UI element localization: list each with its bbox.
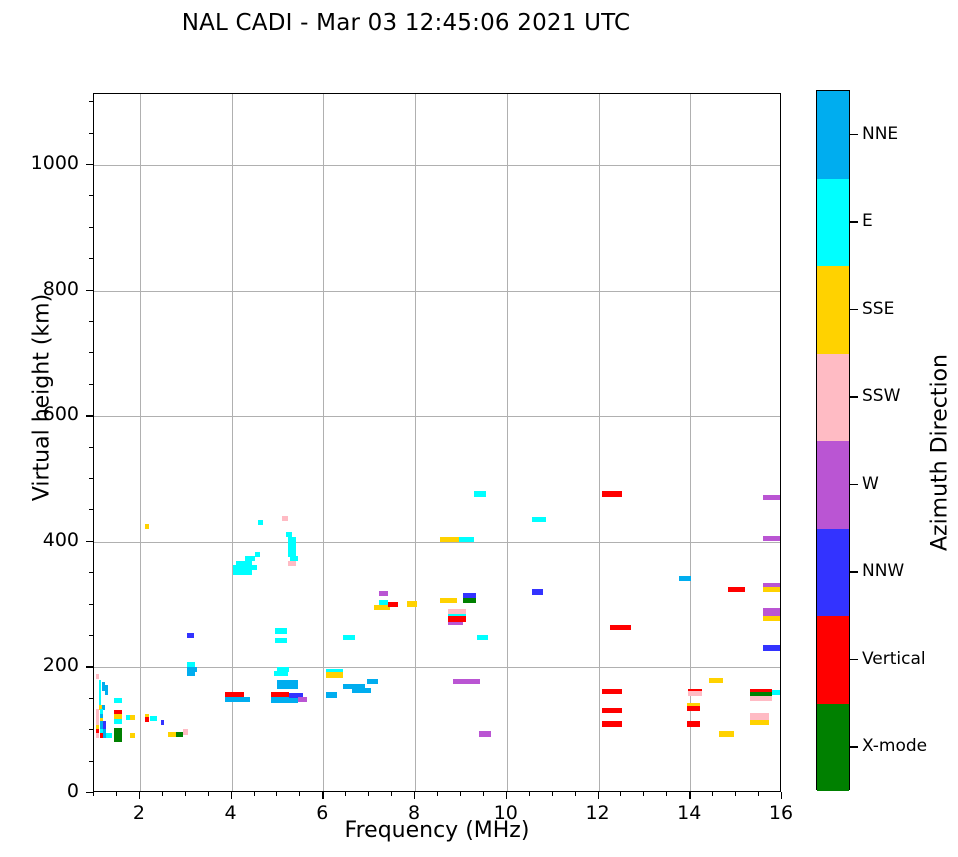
colorbar-segment-sse: [817, 266, 849, 354]
y-tick-minor: [89, 729, 93, 730]
gridline-vertical: [323, 94, 324, 791]
echo-mark: [453, 679, 470, 684]
gridline-vertical: [690, 94, 691, 791]
x-tick-minor: [162, 792, 163, 796]
colorbar-segment-x-mode: [817, 704, 849, 792]
echo-mark: [288, 561, 296, 566]
echo-mark: [440, 537, 458, 542]
x-tick-minor: [391, 792, 392, 796]
echo-mark: [763, 645, 780, 650]
echo-mark: [474, 491, 486, 496]
y-tick: [86, 164, 93, 165]
echo-mark: [96, 674, 99, 679]
x-tick-minor: [712, 792, 713, 796]
plot-canvas: [94, 94, 780, 791]
echo-mark: [610, 625, 631, 630]
echo-mark: [687, 706, 701, 711]
x-tick-minor: [735, 792, 736, 796]
x-tick-minor: [437, 792, 438, 796]
echo-mark: [114, 719, 122, 724]
colorbar-label-nne: NNE: [862, 124, 898, 144]
y-tick: [86, 290, 93, 291]
echo-mark: [298, 697, 307, 702]
ionogram-plot: [93, 93, 781, 792]
y-tick: [86, 666, 93, 667]
y-tick-minor: [89, 447, 93, 448]
echo-mark: [379, 591, 387, 596]
echo-mark: [750, 720, 769, 725]
echo-mark: [750, 696, 772, 701]
echo-mark: [602, 708, 622, 713]
echo-mark: [772, 690, 780, 695]
echo-mark: [679, 576, 691, 581]
echo-mark: [463, 598, 475, 603]
y-axis-title: Virtual height (km): [30, 268, 55, 528]
colorbar-label-x-mode: X-mode: [862, 736, 927, 756]
echo-mark: [150, 716, 157, 721]
y-tick-minor: [89, 509, 93, 510]
x-tick-minor: [460, 792, 461, 796]
echo-mark: [168, 732, 175, 737]
y-tick-minor: [89, 384, 93, 385]
echo-mark: [225, 697, 250, 702]
y-tick-minor: [89, 195, 93, 196]
colorbar-label-ssw: SSW: [862, 386, 900, 406]
y-tick-minor: [89, 698, 93, 699]
echo-mark: [763, 495, 780, 500]
x-tick: [231, 792, 232, 799]
y-tick-label: 200: [9, 654, 79, 676]
y-tick-minor: [89, 133, 93, 134]
echo-mark: [275, 628, 286, 633]
y-tick-minor: [89, 635, 93, 636]
echo-mark: [114, 736, 122, 741]
echo-mark: [187, 633, 194, 638]
x-axis-title: Frequency (MHz): [93, 818, 781, 843]
y-tick: [86, 792, 93, 793]
x-tick-minor: [116, 792, 117, 796]
x-tick-minor: [208, 792, 209, 796]
x-tick-minor: [552, 792, 553, 796]
echo-mark: [532, 517, 546, 522]
echo-mark: [145, 717, 149, 722]
x-tick-minor: [758, 792, 759, 796]
x-tick-minor: [93, 792, 94, 796]
colorbar-segment-vertical: [817, 616, 849, 704]
colorbar-segment-ssw: [817, 354, 849, 442]
y-tick-minor: [89, 321, 93, 322]
y-tick-minor: [89, 761, 93, 762]
echo-mark: [130, 715, 136, 720]
echo-mark: [688, 691, 702, 696]
echo-mark: [233, 569, 253, 574]
echo-mark: [459, 537, 474, 542]
colorbar-label-e: E: [862, 211, 873, 231]
colorbar-title: Azimuth Direction: [928, 303, 953, 603]
echo-mark: [258, 520, 263, 525]
echo-mark: [719, 731, 734, 736]
gridline-vertical: [507, 94, 508, 791]
echo-mark: [145, 524, 149, 529]
echo-mark: [183, 729, 188, 734]
y-tick-minor: [89, 101, 93, 102]
colorbar-tick: [850, 134, 858, 135]
y-tick: [86, 415, 93, 416]
echo-mark: [367, 679, 378, 684]
gridline-vertical: [599, 94, 600, 791]
echo-mark: [728, 587, 745, 592]
echo-mark: [388, 602, 398, 607]
echo-mark: [440, 598, 457, 603]
echo-mark: [763, 587, 780, 592]
echo-mark: [407, 601, 418, 606]
echo-mark: [602, 689, 622, 694]
echo-mark: [105, 690, 108, 695]
y-tick-label: 0: [9, 780, 79, 802]
x-tick: [414, 792, 415, 799]
echo-mark: [161, 720, 165, 725]
x-tick-minor: [299, 792, 300, 796]
echo-mark: [106, 733, 112, 738]
x-tick: [689, 792, 690, 799]
echo-mark: [602, 721, 622, 726]
y-tick-minor: [89, 604, 93, 605]
colorbar-segment-nne: [817, 91, 849, 179]
gridline-vertical: [140, 94, 141, 791]
colorbar-tick: [850, 746, 858, 747]
x-tick: [322, 792, 323, 799]
echo-mark: [130, 733, 136, 738]
page-title: NAL CADI - Mar 03 12:45:06 2021 UTC: [0, 10, 812, 36]
colorbar-tick: [850, 221, 858, 222]
x-tick-minor: [345, 792, 346, 796]
y-tick-minor: [89, 227, 93, 228]
y-tick-minor: [89, 478, 93, 479]
echo-mark: [275, 638, 286, 643]
colorbar-segment-w: [817, 441, 849, 529]
echo-mark: [709, 678, 724, 683]
colorbar-tick: [850, 484, 858, 485]
x-tick-minor: [575, 792, 576, 796]
x-tick-minor: [483, 792, 484, 796]
x-tick-minor: [529, 792, 530, 796]
echo-mark: [286, 532, 292, 537]
echo-mark: [255, 552, 260, 557]
echo-mark: [477, 635, 488, 640]
x-tick-minor: [620, 792, 621, 796]
x-tick-minor: [666, 792, 667, 796]
x-tick-minor: [276, 792, 277, 796]
echo-mark: [282, 516, 288, 521]
echo-mark: [326, 692, 337, 697]
x-tick-minor: [254, 792, 255, 796]
echo-mark: [479, 731, 490, 736]
echo-mark: [176, 732, 184, 737]
echo-mark: [687, 721, 701, 726]
echo-mark: [763, 616, 780, 621]
echo-mark: [187, 671, 195, 676]
x-tick: [781, 792, 782, 799]
echo-mark: [343, 635, 355, 640]
colorbar-label-sse: SSE: [862, 299, 894, 319]
echo-mark: [352, 688, 372, 693]
gridline-vertical: [232, 94, 233, 791]
x-tick: [506, 792, 507, 799]
colorbar: [816, 90, 850, 790]
x-tick: [139, 792, 140, 799]
colorbar-tick: [850, 396, 858, 397]
colorbar-label-w: W: [862, 474, 879, 494]
gridline-horizontal: [94, 165, 780, 166]
colorbar-tick: [850, 659, 858, 660]
echo-mark: [469, 679, 480, 684]
colorbar-tick: [850, 571, 858, 572]
gridline-horizontal: [94, 542, 780, 543]
echo-mark: [763, 536, 780, 541]
x-tick-minor: [185, 792, 186, 796]
y-tick-label: 1000: [9, 152, 79, 174]
y-tick-label: 400: [9, 529, 79, 551]
y-tick: [86, 541, 93, 542]
x-tick: [598, 792, 599, 799]
colorbar-segment-e: [817, 179, 849, 267]
x-tick-minor: [368, 792, 369, 796]
colorbar-label-nnw: NNW: [862, 561, 904, 581]
echo-mark: [602, 491, 622, 496]
gridline-horizontal: [94, 291, 780, 292]
echo-mark: [280, 671, 288, 676]
y-tick-minor: [89, 572, 93, 573]
echo-mark: [326, 672, 343, 677]
echo-mark: [532, 589, 543, 594]
x-tick-minor: [643, 792, 644, 796]
colorbar-tick: [850, 309, 858, 310]
gridline-horizontal: [94, 416, 780, 417]
colorbar-segment-nnw: [817, 529, 849, 617]
echo-mark: [245, 556, 255, 561]
echo-mark: [277, 684, 298, 689]
gridline-vertical: [415, 94, 416, 791]
echo-mark: [448, 616, 466, 621]
echo-mark: [114, 698, 122, 703]
y-tick-minor: [89, 352, 93, 353]
colorbar-label-vertical: Vertical: [862, 649, 926, 669]
y-tick-minor: [89, 258, 93, 259]
